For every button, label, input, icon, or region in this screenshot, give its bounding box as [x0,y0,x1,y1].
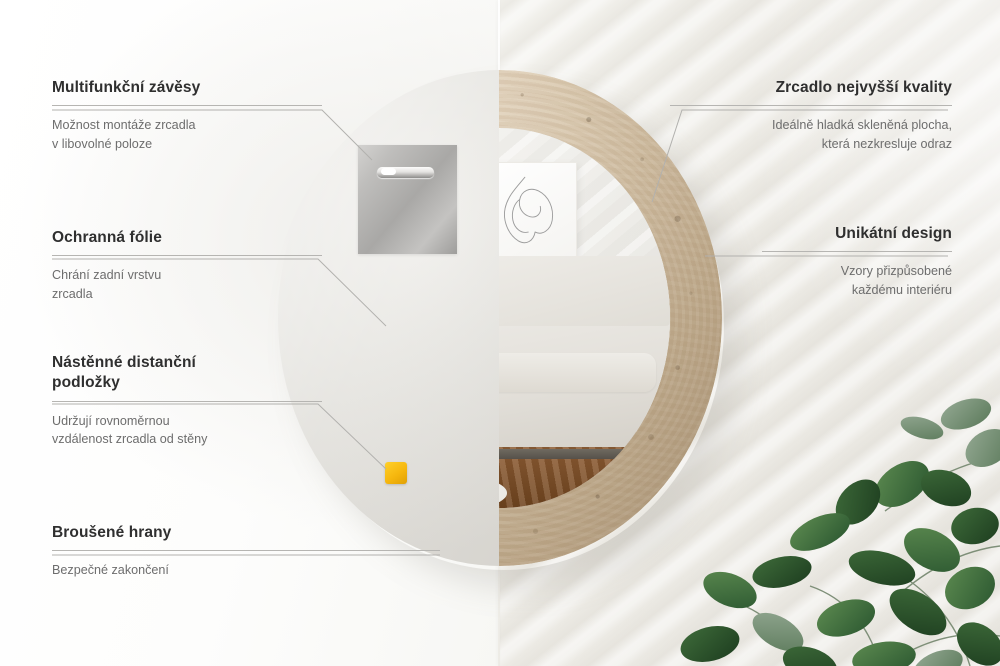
callout-title: Ochranná fólie [52,228,322,248]
reflected-wall-art [499,162,577,270]
bracket-slot [377,167,434,178]
sofa-base [499,449,635,460]
callout-description: Možnost montáže zrcadla v libovolné polo… [52,116,322,153]
round-mirror-product [278,70,722,566]
callout-rule [52,401,322,402]
callout-wall-spacers: Nástěnné distanční podložky Udržují rovn… [52,353,322,448]
callout-description: Bezpečné zakončení [52,561,440,579]
mirror-glass [499,128,670,508]
hanger-bracket [358,145,457,254]
callout-multifunctional-hangers: Multifunkční závěsy Možnost montáže zrca… [52,78,322,153]
callout-title: Broušené hrany [52,523,440,543]
callout-rule [52,550,440,551]
sofa-backrest [499,256,670,326]
callout-rule [670,105,952,106]
sofa-cushion [499,353,656,393]
infographic-canvas: Multifunkční závěsy Možnost montáže zrca… [0,0,1000,666]
callout-protective-film: Ochranná fólie Chrání zadní vrstvu zrcad… [52,228,322,303]
callout-unique-design: Unikátní design Vzory přizpůsobené každé… [762,224,952,299]
callout-top-quality-mirror: Zrcadlo nejvyšší kvality Ideálně hladká … [670,78,952,153]
callout-rule [762,251,952,252]
callout-description: Chrání zadní vrstvu zrcadla [52,266,322,303]
callout-ground-edges: Broušené hrany Bezpečné zakončení [52,523,440,580]
callout-title: Multifunkční závěsy [52,78,322,98]
callout-rule [52,105,322,106]
callout-rule [52,255,322,256]
yellow-spacer-pad [385,462,407,484]
callout-title: Zrcadlo nejvyšší kvality [670,78,952,98]
callout-title: Unikátní design [762,224,952,244]
line-art-face-icon [499,172,568,261]
callout-description: Ideálně hladká skleněná plocha, která ne… [670,116,952,153]
callout-description: Udržují rovnoměrnou vzdálenost zrcadla o… [52,412,322,449]
reflected-sofa [499,295,670,447]
callout-description: Vzory přizpůsobené každému interiéru [762,262,952,299]
callout-title: Nástěnné distanční podložky [52,353,322,394]
